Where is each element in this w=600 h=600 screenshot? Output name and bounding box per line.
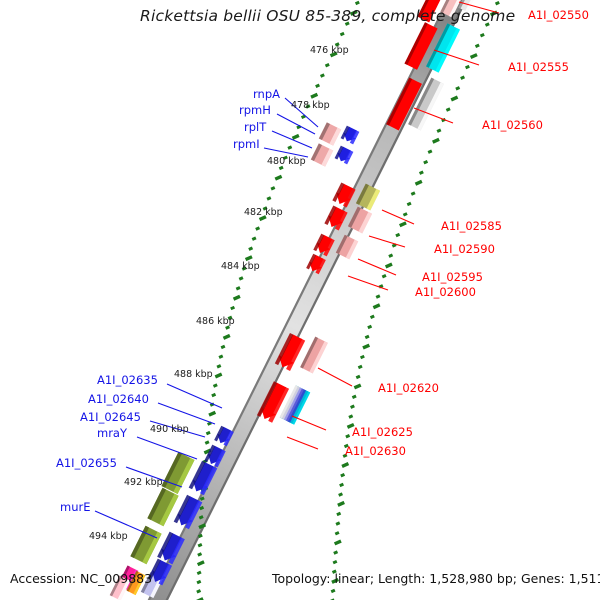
accession-text: Accession: NC_009883 bbox=[10, 571, 152, 586]
gene-rplT-pink bbox=[319, 122, 341, 145]
gene-label-mray[interactable]: mraY bbox=[97, 426, 127, 440]
gene-rpmI-pink bbox=[311, 143, 333, 166]
ruler-tick-490: 490 kbp bbox=[150, 424, 189, 435]
gene-murE-olive bbox=[130, 526, 161, 564]
gene-label-a1i_02620[interactable]: A1I_02620 bbox=[378, 381, 439, 395]
ruler-tick-478: 478 kbp bbox=[291, 100, 330, 111]
ruler-tick-494: 494 kbp bbox=[89, 531, 128, 542]
gene-label-a1i_02590[interactable]: A1I_02590 bbox=[434, 242, 495, 256]
ruler-tick-484: 484 kbp bbox=[221, 261, 260, 272]
gene-label-a1i_02625[interactable]: A1I_02625 bbox=[352, 425, 413, 439]
gene-label-a1i_02600[interactable]: A1I_02600 bbox=[415, 285, 476, 299]
gene-label-a1i_02560[interactable]: A1I_02560 bbox=[482, 118, 543, 132]
gene-rnpA-blue bbox=[341, 126, 360, 145]
gene-label-a1i_02635[interactable]: A1I_02635 bbox=[97, 373, 158, 387]
ruler-tick-482: 482 kbp bbox=[244, 207, 283, 218]
gene-label-rpmi[interactable]: rpmI bbox=[233, 137, 260, 151]
gene-label-rpmh[interactable]: rpmH bbox=[239, 103, 271, 117]
genome-map-viewer: Rickettsia bellii OSU 85-389, complete g… bbox=[0, 0, 600, 600]
gene-features-layer[interactable] bbox=[110, 0, 478, 600]
gene-label-rnpa[interactable]: rnpA bbox=[253, 87, 280, 101]
gene-label-rplt[interactable]: rplT bbox=[244, 120, 266, 134]
ruler-tick-492: 492 kbp bbox=[124, 477, 163, 488]
gene-label-a1i_02585[interactable]: A1I_02585 bbox=[441, 219, 502, 233]
ruler-tick-486: 486 kbp bbox=[196, 316, 235, 327]
gene-label-mure[interactable]: murE bbox=[60, 500, 91, 514]
gene-label-a1i_02595[interactable]: A1I_02595 bbox=[422, 270, 483, 284]
gene-mraY-olive bbox=[147, 488, 178, 526]
ruler-tick-476: 476 kbp bbox=[310, 45, 349, 56]
ruler-tick-488: 488 kbp bbox=[174, 369, 213, 380]
gene-label-a1i_02555[interactable]: A1I_02555 bbox=[508, 60, 569, 74]
ruler-arc-left bbox=[196, 0, 365, 600]
gene-label-a1i_02630[interactable]: A1I_02630 bbox=[345, 444, 406, 458]
gene-label-a1i_02645[interactable]: A1I_02645 bbox=[80, 410, 141, 424]
gene-rpmH-blue bbox=[335, 146, 354, 165]
page-title: Rickettsia bellii OSU 85-389, complete g… bbox=[140, 7, 515, 25]
ruler-tick-480: 480 kbp bbox=[267, 156, 306, 167]
gene-label-a1i_02550[interactable]: A1I_02550 bbox=[528, 8, 589, 22]
gene-label-a1i_02640[interactable]: A1I_02640 bbox=[88, 392, 149, 406]
genome-stats-text: Topology: linear; Length: 1,528,980 bp; … bbox=[272, 571, 600, 586]
gene-label-a1i_02655[interactable]: A1I_02655 bbox=[56, 456, 117, 470]
